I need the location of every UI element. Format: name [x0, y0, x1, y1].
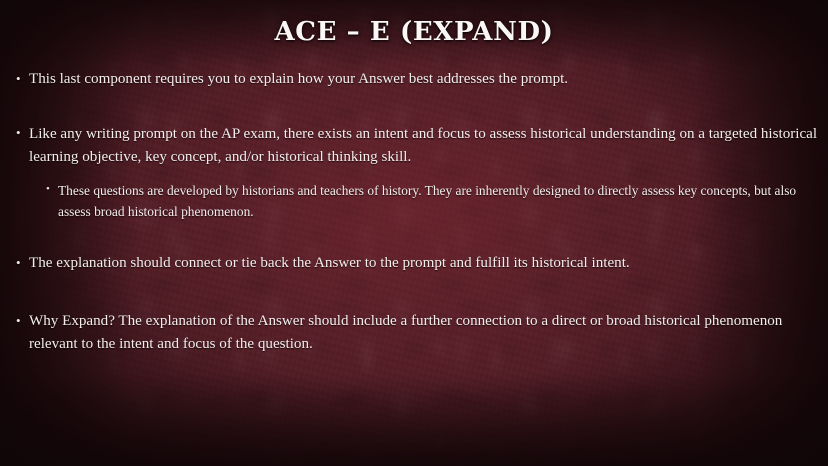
spacer [12, 222, 818, 252]
bullet-item-1: This last component requires you to expl… [12, 68, 818, 91]
spacer [12, 275, 818, 310]
bullet-item-3: The explanation should connect or tie ba… [12, 252, 818, 275]
slide-body: This last component requires you to expl… [12, 68, 818, 356]
bullet-item-2: Like any writing prompt on the AP exam, … [12, 123, 818, 169]
bullet-item-4: Why Expand? The explanation of the Answe… [12, 310, 818, 356]
spacer [12, 169, 818, 181]
spacer [12, 91, 818, 123]
slide-title: ACE – E (EXPAND) [0, 17, 828, 47]
sub-bullet-item-1: These questions are developed by histori… [43, 181, 818, 223]
presentation-slide: ACE – E (EXPAND) This last component req… [0, 0, 828, 466]
slide-content: ACE – E (EXPAND) This last component req… [0, 0, 828, 466]
